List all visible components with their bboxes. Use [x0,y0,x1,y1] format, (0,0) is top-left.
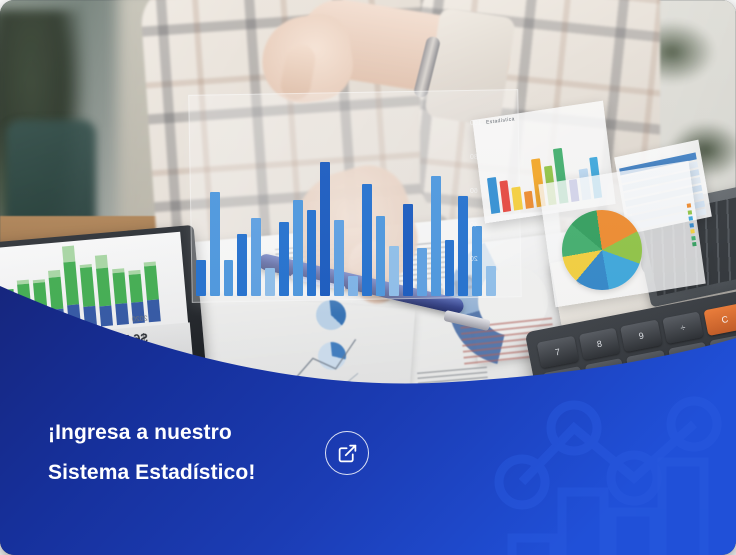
external-link-icon [337,443,358,464]
open-statistics-system-button[interactable] [325,431,369,475]
promo-banner-card: Analisis [0,0,736,555]
